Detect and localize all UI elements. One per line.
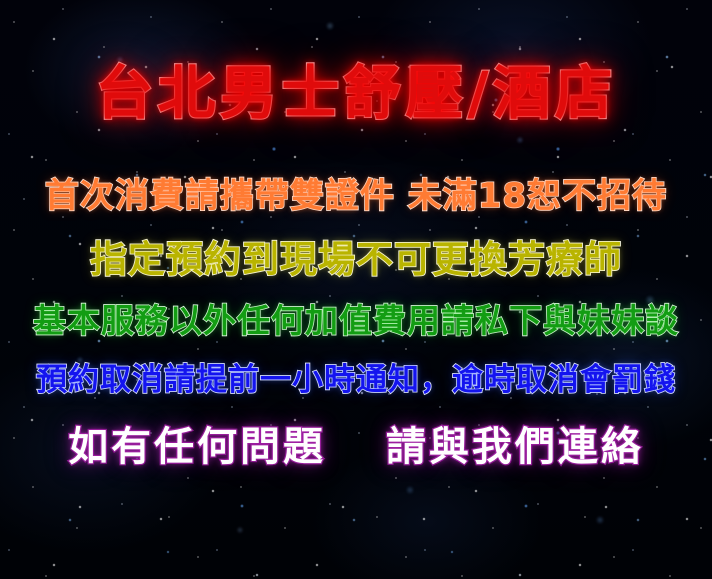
- footer-question-text: 如有任何問題: [68, 424, 326, 470]
- poster-canvas: 台北男士舒壓/酒店 首次消費請攜帶雙證件 未滿18恕不招待 指定預約到現場不可更…: [0, 0, 712, 579]
- poster-text-content: 台北男士舒壓/酒店 首次消費請攜帶雙證件 未滿18恕不招待 指定預約到現場不可更…: [0, 0, 712, 579]
- poster-title: 台北男士舒壓/酒店: [0, 64, 712, 122]
- notice-extra-fee: 基本服務以外任何加值費用請私下與妹妹談: [0, 294, 712, 342]
- notice-therapist-change: 指定預約到現場不可更換芳療師: [0, 229, 712, 283]
- footer-contact-text: 請與我們連絡: [386, 424, 644, 470]
- footer-contact-line: 如有任何問題 請與我們連絡: [0, 414, 712, 472]
- notice-age-id: 首次消費請攜帶雙證件 未滿18恕不招待: [0, 168, 712, 217]
- notice-cancellation: 預約取消請提前一小時通知，逾時取消會罰錢: [0, 354, 712, 399]
